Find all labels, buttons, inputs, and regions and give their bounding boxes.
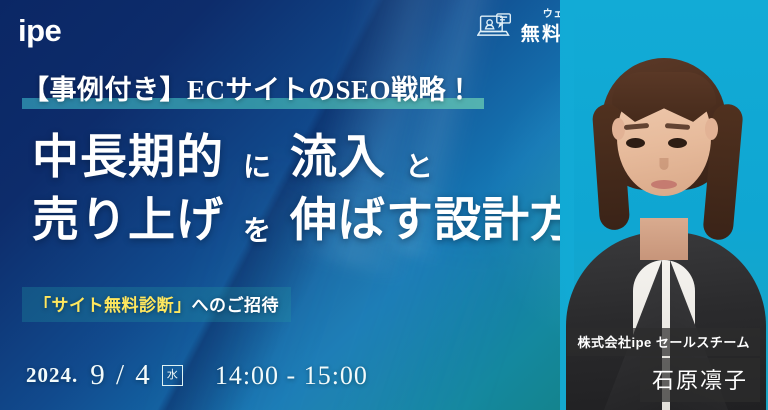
schedule-day-of-week: 水 (162, 365, 183, 386)
portrait-nose (660, 158, 669, 170)
title-chunk-highlight: 中長期的 (22, 130, 234, 189)
title-line-1: 中長期的 に 流入 と (22, 130, 636, 189)
kicker-wrapper: 【事例付き】ECサイトのSEO戦略！ (22, 68, 474, 107)
presenter-name: 石原凛子 (640, 358, 760, 402)
cta-rest: へのご招待 (192, 296, 280, 315)
presenter-caption: 株式会社ipe セールスチーム 石原凛子 (567, 328, 760, 402)
title-chunk-plain: に (234, 154, 280, 189)
portrait-ear-left (612, 118, 625, 140)
portrait-eye-left (626, 138, 645, 148)
schedule-year: 2024. (26, 363, 78, 388)
schedule-time: 14:00 - 15:00 (215, 361, 368, 391)
title-chunk-highlight: 流入 (280, 130, 396, 189)
title-chunk-plain: を (234, 218, 280, 253)
portrait-neck (640, 218, 688, 260)
portrait-ear-right (705, 118, 718, 140)
portrait-eye-right (668, 138, 687, 148)
title-line-2: 売り上げ を 伸ばす設計方法 (22, 193, 636, 252)
ipe-logo: ipe (18, 15, 61, 46)
cta-emphasis: 「サイト無料診断」 (34, 296, 192, 315)
schedule-bar: 2024. 9 / 4 水 14:00 - 15:00 (26, 359, 368, 392)
cta-badge[interactable]: 「サイト無料診断」へのご招待 (22, 287, 291, 322)
portrait-mouth (651, 180, 677, 189)
presenter-company: 株式会社ipe セールスチーム (567, 328, 760, 356)
laptop-webinar-icon (477, 12, 513, 42)
title-chunk-highlight: 売り上げ (22, 193, 234, 252)
seminar-banner: ipe ウェブマーケティングに課題がある方向けに 無料オンラインセミナー 【事例… (0, 0, 768, 410)
title-chunk-plain: と (396, 154, 442, 189)
schedule-day: 9 / 4 (90, 359, 152, 392)
kicker-text: 【事例付き】ECサイトのSEO戦略！ (22, 68, 474, 107)
main-title: 中長期的 に 流入 と 売り上げ を 伸ばす設計方法 (22, 130, 636, 257)
